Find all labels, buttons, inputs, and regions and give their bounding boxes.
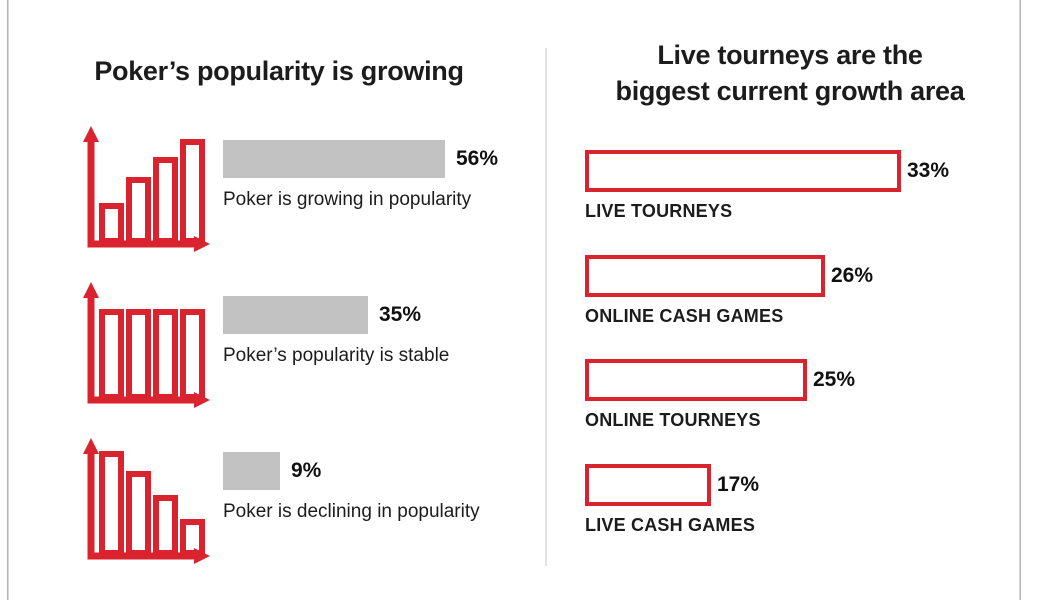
right-panel: Live tourneys are the biggest current gr… — [560, 0, 1020, 600]
right-panel-title-line-2: biggest current growth area — [570, 74, 1010, 110]
hollow-bar-label: LIVE CASH GAMES — [585, 515, 1015, 536]
gray-bar-label: Poker’s popularity is stable — [223, 345, 543, 367]
left-stat-row: 56% Poker is growing in popularity — [14, 112, 544, 262]
hollow-bar — [585, 255, 825, 297]
panel-divider — [545, 48, 547, 566]
gray-bar-line: 35% — [223, 296, 543, 334]
bar-chart-flat-icon — [77, 276, 212, 411]
hollow-bar-line: 26% — [585, 255, 1015, 297]
hollow-bar — [585, 464, 711, 506]
left-stat-bar-group: 56% Poker is growing in popularity — [223, 140, 543, 211]
hollow-bar-percent: 26% — [831, 264, 873, 288]
gray-bar-percent: 56% — [456, 147, 498, 171]
hollow-bar-percent: 33% — [907, 159, 949, 183]
gray-bar — [223, 140, 445, 178]
hollow-bar-label: LIVE TOURNEYS — [585, 201, 1015, 222]
gray-bar-label: Poker is growing in popularity — [223, 189, 543, 211]
hollow-bar-line: 25% — [585, 359, 1015, 401]
left-panel: Poker’s popularity is growing — [14, 0, 544, 600]
right-stat-row: 25% ONLINE TOURNEYS — [585, 359, 1015, 464]
left-stat-bar-group: 9% Poker is declining in popularity — [223, 452, 543, 523]
bar-chart-declining-icon — [77, 432, 212, 567]
hollow-bar-label: ONLINE TOURNEYS — [585, 410, 1015, 431]
hollow-bar-line: 17% — [585, 464, 1015, 506]
right-stat-row: 26% ONLINE CASH GAMES — [585, 255, 1015, 360]
page-border-left — [7, 0, 8, 600]
right-panel-title-line-1: Live tourneys are the — [570, 38, 1010, 74]
gray-bar-percent: 9% — [291, 459, 321, 483]
gray-bar-line: 56% — [223, 140, 543, 178]
infographic-root: Poker’s popularity is growing — [0, 0, 1050, 600]
hollow-bar-percent: 25% — [813, 368, 855, 392]
left-panel-title: Poker’s popularity is growing — [14, 56, 544, 87]
left-stat-bar-group: 35% Poker’s popularity is stable — [223, 296, 543, 367]
hollow-bar-percent: 17% — [717, 473, 759, 497]
left-stat-row: 9% Poker is declining in popularity — [14, 424, 544, 574]
hollow-bar-label: ONLINE CASH GAMES — [585, 306, 1015, 327]
gray-bar-label: Poker is declining in popularity — [223, 501, 543, 523]
gray-bar-line: 9% — [223, 452, 543, 490]
right-panel-title: Live tourneys are the biggest current gr… — [570, 38, 1010, 109]
hollow-bar — [585, 359, 807, 401]
gray-bar — [223, 296, 368, 334]
left-stat-row: 35% Poker’s popularity is stable — [14, 268, 544, 418]
gray-bar — [223, 452, 280, 490]
right-stat-row: 17% LIVE CASH GAMES — [585, 464, 1015, 569]
hollow-bar — [585, 150, 901, 192]
right-stat-row: 33% LIVE TOURNEYS — [585, 150, 1015, 255]
gray-bar-percent: 35% — [379, 303, 421, 327]
page-border-right — [1020, 0, 1021, 600]
bar-chart-rising-icon — [77, 120, 212, 255]
hollow-bar-line: 33% — [585, 150, 1015, 192]
